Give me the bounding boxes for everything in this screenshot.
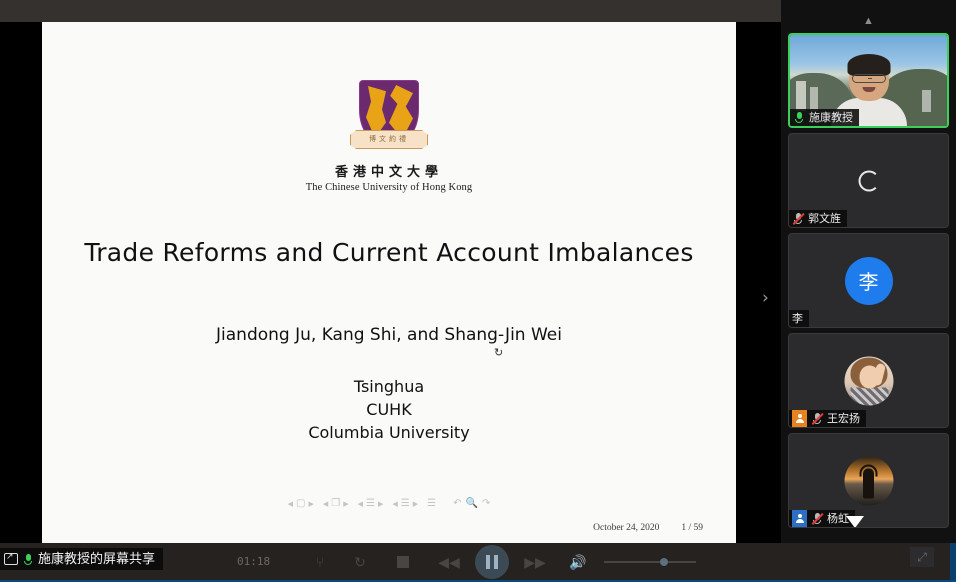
- beamer-navigation-bar[interactable]: ◀ ▢ ▶ ◀ ❐ ▶ ◀ ☰ ▶ ◀ ☰ ▶: [42, 498, 736, 509]
- slide-icon[interactable]: ▢: [296, 499, 305, 509]
- search-icon[interactable]: 🔍: [466, 498, 478, 509]
- microphone-muted-icon: [792, 212, 804, 225]
- scenery-building: [922, 90, 931, 112]
- affiliation-2: CUHK: [42, 398, 736, 421]
- pause-icon: [486, 555, 490, 569]
- stop-button[interactable]: [380, 556, 426, 568]
- rewind-button[interactable]: ◀◀: [426, 555, 472, 569]
- shared-screen-area: 博文約禮 香港中文大學 The Chinese University of Ho…: [0, 22, 781, 543]
- user-badge-icon: [792, 510, 807, 527]
- next-subsection-icon[interactable]: ▶: [378, 500, 383, 508]
- slide-authors: Jiandong Ju, Kang Shi, and Shang-Jin Wei: [42, 325, 736, 345]
- bottom-toolbar: 施康教授的屏幕共享 01:18 ⑂ ↻ ◀◀ ▶▶ 🔊 ⤢: [0, 543, 956, 582]
- refresh-icon[interactable]: ↻: [340, 555, 380, 569]
- cuhk-logo: 博文約禮 香港中文大學 The Chinese University of Ho…: [42, 80, 736, 193]
- media-timer: 01:18: [237, 555, 270, 568]
- stop-icon: [397, 556, 409, 568]
- person-hair: [847, 54, 890, 76]
- cuhk-crest-icon: 博文約禮: [359, 80, 419, 155]
- avatar-body: [850, 387, 888, 405]
- next-section-icon[interactable]: ▶: [413, 500, 418, 508]
- participant-tile[interactable]: 王宏扬: [788, 333, 949, 428]
- nav-frame-group[interactable]: ◀ ❐ ▶: [323, 499, 349, 509]
- participant-name: 李: [792, 313, 803, 324]
- volume-track: [604, 561, 696, 563]
- participant-name: 施康教授: [809, 112, 853, 123]
- section-icon[interactable]: ☰: [401, 499, 410, 509]
- affiliation-3: Columbia University: [42, 421, 736, 444]
- pause-icon: [494, 555, 498, 569]
- slide-date: October 24, 2020: [593, 523, 659, 533]
- avatar: [844, 456, 893, 505]
- scenery-building: [796, 81, 806, 111]
- participant-label: 施康教授: [790, 109, 859, 126]
- loading-spinner-icon: [858, 170, 879, 191]
- media-player-controls[interactable]: ⑂ ↻ ◀◀ ▶▶ 🔊: [300, 546, 696, 578]
- slide-title: Trade Reforms and Current Account Imbala…: [42, 238, 736, 267]
- screen-share-icon: [4, 553, 18, 565]
- avatar: [844, 356, 893, 405]
- slide-page-number: 1 / 59: [681, 523, 703, 533]
- university-name-english: The Chinese University of Hong Kong: [306, 182, 473, 193]
- prev-slide-icon[interactable]: ◀: [288, 500, 293, 508]
- microphone-muted-icon: [811, 412, 823, 425]
- crest-banner: 博文約禮: [350, 130, 428, 149]
- participant-label: 李: [789, 310, 809, 327]
- volume-slider[interactable]: [604, 556, 696, 568]
- scenery-building: [810, 87, 818, 111]
- pause-button[interactable]: [475, 545, 509, 579]
- scroll-up-icon[interactable]: ▲: [781, 16, 956, 27]
- next-frame-icon[interactable]: ▶: [343, 500, 348, 508]
- slide-footer: October 24, 2020 1 / 59: [42, 523, 736, 533]
- participant-name: 王宏扬: [827, 413, 860, 424]
- participant-tile[interactable]: 郭文旌: [788, 133, 949, 228]
- volume-icon[interactable]: 🔊: [558, 555, 598, 569]
- screen-share-label: 施康教授的屏幕共享: [38, 553, 155, 566]
- host-badge-icon: [792, 410, 807, 427]
- scroll-down-icon[interactable]: [846, 516, 864, 528]
- nav-slide-group[interactable]: ◀ ▢ ▶: [288, 499, 314, 509]
- crest-banner-text: 博文約禮: [351, 134, 427, 144]
- participant-label: 郭文旌: [789, 210, 847, 227]
- prev-section-icon[interactable]: ◀: [392, 500, 397, 508]
- zoom-meeting-window: 博文約禮 香港中文大學 The Chinese University of Ho…: [0, 0, 956, 582]
- presentation-slide[interactable]: 博文約禮 香港中文大學 The Chinese University of Ho…: [42, 22, 736, 543]
- participant-tiles: 施康教授 郭文旌 李 李: [788, 33, 949, 533]
- forward-icon[interactable]: ↷: [482, 498, 490, 509]
- next-slide-icon[interactable]: ▶: [309, 500, 314, 508]
- prev-subsection-icon[interactable]: ◀: [358, 500, 363, 508]
- avatar-arms: [860, 464, 878, 476]
- slide-affiliations: Tsinghua CUHK Columbia University: [42, 375, 736, 445]
- fullscreen-button[interactable]: ⤢: [910, 547, 934, 567]
- university-name-chinese: 香港中文大學: [335, 161, 443, 180]
- volume-knob[interactable]: [660, 558, 668, 566]
- frame-icon[interactable]: ❐: [331, 499, 340, 509]
- participants-rail: ▲: [781, 0, 956, 545]
- nav-zoom-group[interactable]: ↶ 🔍 ↷: [453, 498, 490, 509]
- collapse-panel-chevron-icon[interactable]: ›: [762, 290, 769, 307]
- participant-tile[interactable]: 李 李: [788, 233, 949, 328]
- participant-tile[interactable]: 施康教授: [788, 33, 949, 128]
- prev-frame-icon[interactable]: ◀: [323, 500, 328, 508]
- participant-label: 王宏扬: [789, 410, 866, 427]
- avatar: 李: [845, 257, 893, 305]
- participant-name: 郭文旌: [808, 213, 841, 224]
- document-icon[interactable]: ☰: [427, 499, 436, 509]
- top-strip: [0, 0, 781, 22]
- participant-tile[interactable]: 杨虹: [788, 433, 949, 528]
- affiliation-1: Tsinghua: [42, 375, 736, 398]
- subsection-icon[interactable]: ☰: [366, 499, 375, 509]
- nav-section-group[interactable]: ◀ ☰ ▶: [392, 499, 418, 509]
- nav-subsection-group[interactable]: ◀ ☰ ▶: [358, 499, 384, 509]
- screen-share-indicator[interactable]: 施康教授的屏幕共享: [0, 548, 163, 570]
- microphone-on-icon: [22, 553, 34, 566]
- share-media-icon[interactable]: ⑂: [300, 555, 340, 569]
- microphone-muted-icon: [811, 512, 823, 525]
- hand-cursor-icon: ↻: [494, 346, 503, 359]
- fast-forward-button[interactable]: ▶▶: [512, 555, 558, 569]
- window-edge-right: [950, 543, 956, 582]
- back-icon[interactable]: ↶: [453, 498, 461, 509]
- microphone-on-icon: [793, 111, 805, 124]
- glasses-icon: [852, 74, 886, 83]
